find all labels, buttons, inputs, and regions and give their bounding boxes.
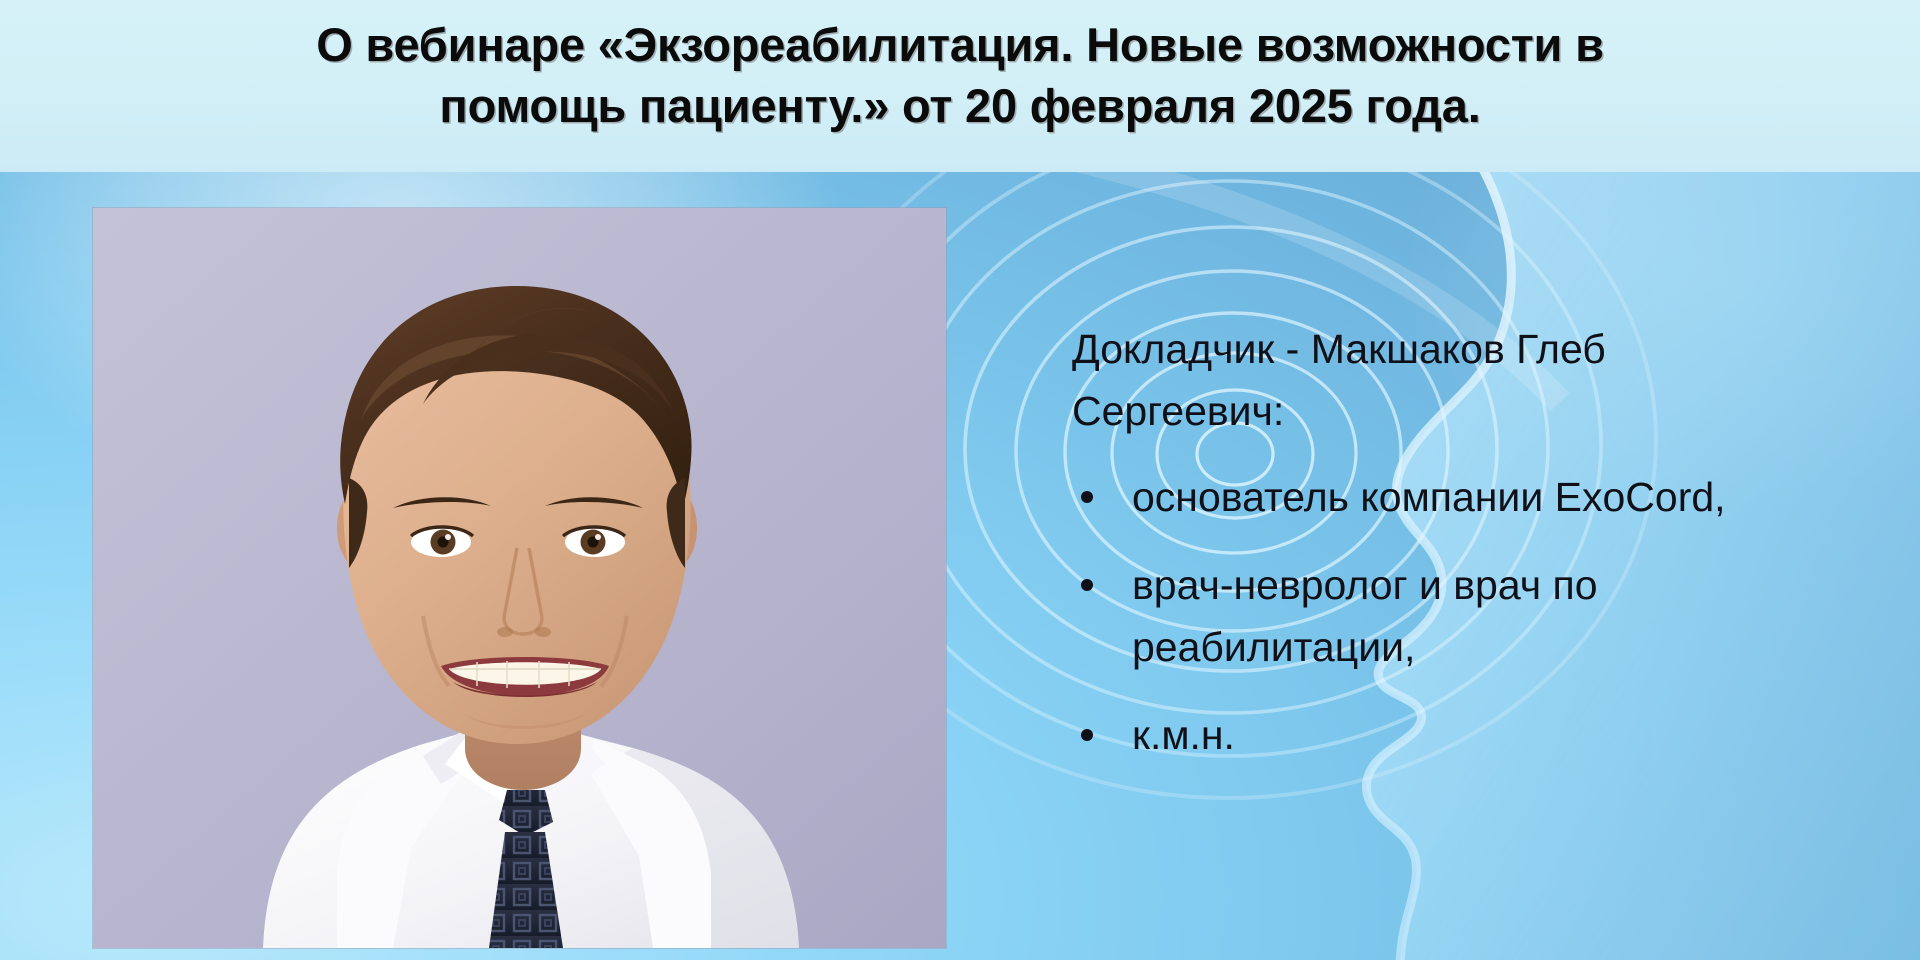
- speaker-name-line: Докладчик - Макшаков Глеб Сергеевич:: [1072, 318, 1862, 442]
- slide-root: О вебинаре «Экзореабилитация. Новые возм…: [0, 0, 1920, 960]
- slide-header-band: О вебинаре «Экзореабилитация. Новые возм…: [0, 0, 1920, 172]
- credential-text: основатель компании ExoCord,: [1132, 466, 1862, 528]
- bullet-dot-icon: [1081, 491, 1093, 503]
- page-title: О вебинаре «Экзореабилитация. Новые возм…: [120, 14, 1800, 136]
- speaker-info-block: Докладчик - Макшаков Глеб Сергеевич: осн…: [1072, 318, 1862, 792]
- credential-text: к.м.н.: [1132, 704, 1862, 766]
- speaker-photo-image: [93, 208, 946, 948]
- list-item: к.м.н.: [1072, 704, 1862, 766]
- list-item: врач-невролог и врач по реабилитации,: [1072, 554, 1862, 678]
- bullet-dot-icon: [1081, 729, 1093, 741]
- list-item: основатель компании ExoCord,: [1072, 466, 1862, 528]
- speaker-photo: [93, 208, 946, 948]
- speaker-credentials-list: основатель компании ExoCord, врач-неврол…: [1072, 466, 1862, 766]
- bullet-dot-icon: [1081, 579, 1093, 591]
- credential-text: врач-невролог и врач по реабилитации,: [1132, 554, 1862, 678]
